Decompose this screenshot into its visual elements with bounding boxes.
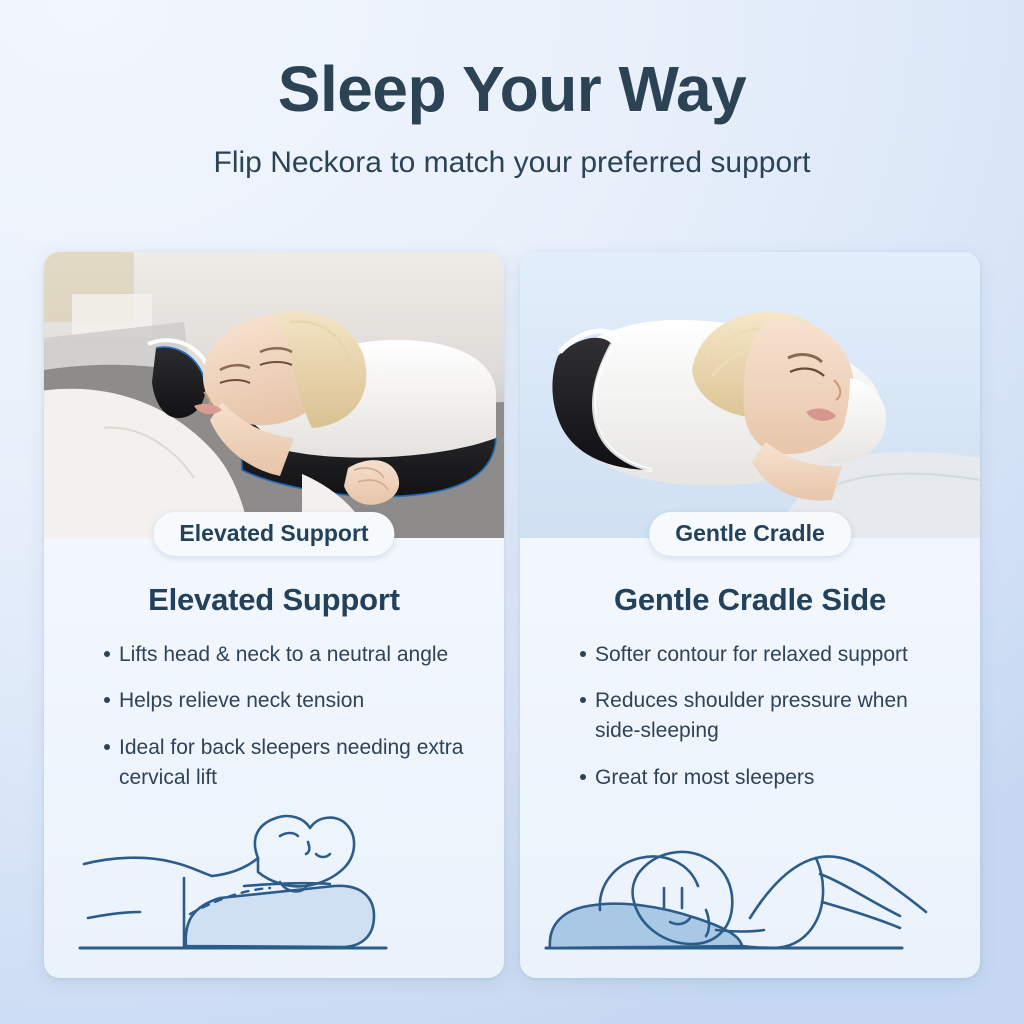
list-item: Reduces shoulder pressure when side-slee… xyxy=(580,686,954,746)
line-art-side-sleeper xyxy=(520,802,980,970)
header: Sleep Your Way Flip Neckora to match you… xyxy=(0,56,1024,181)
page-subtitle: Flip Neckora to match your preferred sup… xyxy=(0,145,1024,181)
feature-list-elevated: Lifts head & neck to a neutral angle Hel… xyxy=(70,640,478,793)
product-photo-cradle xyxy=(520,252,980,538)
feature-list-cradle: Softer contour for relaxed support Reduc… xyxy=(546,640,954,793)
infographic-canvas: Sleep Your Way Flip Neckora to match you… xyxy=(0,0,1024,1024)
list-item: Helps relieve neck tension xyxy=(104,686,478,716)
photo-illustration-elevated xyxy=(44,252,504,538)
product-photo-elevated xyxy=(44,252,504,538)
badge-elevated-support: Elevated Support xyxy=(153,512,394,556)
diagram-side-sleeper xyxy=(520,802,980,970)
list-item: Lifts head & neck to a neutral angle xyxy=(104,640,478,670)
line-art-back-sleeper xyxy=(44,802,504,970)
card-gentle-cradle[interactable]: Gentle Cradle Gentle Cradle Side Softer … xyxy=(520,252,980,978)
diagram-back-sleeper xyxy=(44,802,504,970)
photo-illustration-cradle xyxy=(520,252,980,538)
list-item: Ideal for back sleepers needing extra ce… xyxy=(104,733,478,793)
badge-gentle-cradle: Gentle Cradle xyxy=(649,512,851,556)
card-elevated-support[interactable]: Elevated Support Elevated Support Lifts … xyxy=(44,252,504,978)
list-item: Great for most sleepers xyxy=(580,763,954,793)
list-item: Softer contour for relaxed support xyxy=(580,640,954,670)
card-heading-elevated: Elevated Support xyxy=(70,582,478,618)
comparison-cards: Elevated Support Elevated Support Lifts … xyxy=(44,252,980,978)
card-heading-cradle: Gentle Cradle Side xyxy=(546,582,954,618)
page-title: Sleep Your Way xyxy=(0,56,1024,123)
